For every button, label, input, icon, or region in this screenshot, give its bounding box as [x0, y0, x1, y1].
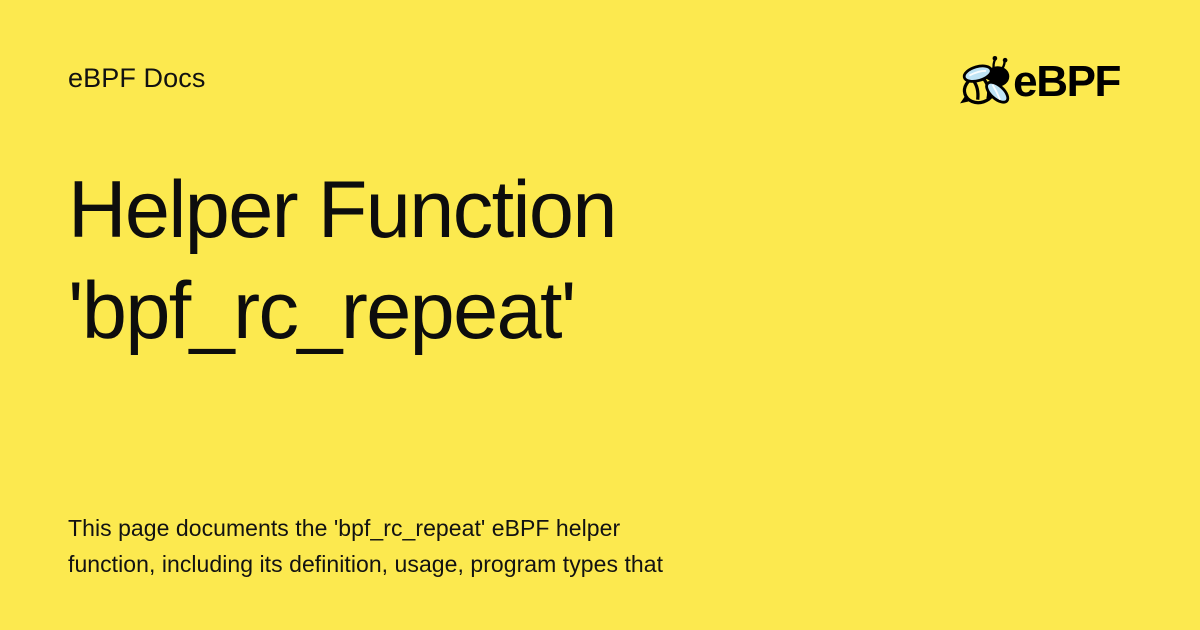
description-line: This page documents the 'bpf_rc_repeat' … [68, 510, 888, 546]
brand-wordmark: eBPF [1013, 60, 1120, 104]
social-share-card: eBPF Docs [0, 0, 1200, 630]
page-title: Helper Function 'bpf_rc_repeat' [68, 160, 1128, 362]
bee-icon [959, 56, 1015, 108]
description-line: function, including its definition, usag… [68, 546, 888, 582]
ebpf-logo: eBPF [959, 56, 1120, 108]
page-description: This page documents the 'bpf_rc_repeat' … [68, 510, 888, 582]
description-block: This page documents the 'bpf_rc_repeat' … [68, 510, 888, 582]
card-header: eBPF Docs [0, 0, 1200, 150]
title-block: Helper Function 'bpf_rc_repeat' [68, 160, 1128, 362]
site-name: eBPF Docs [68, 62, 205, 94]
